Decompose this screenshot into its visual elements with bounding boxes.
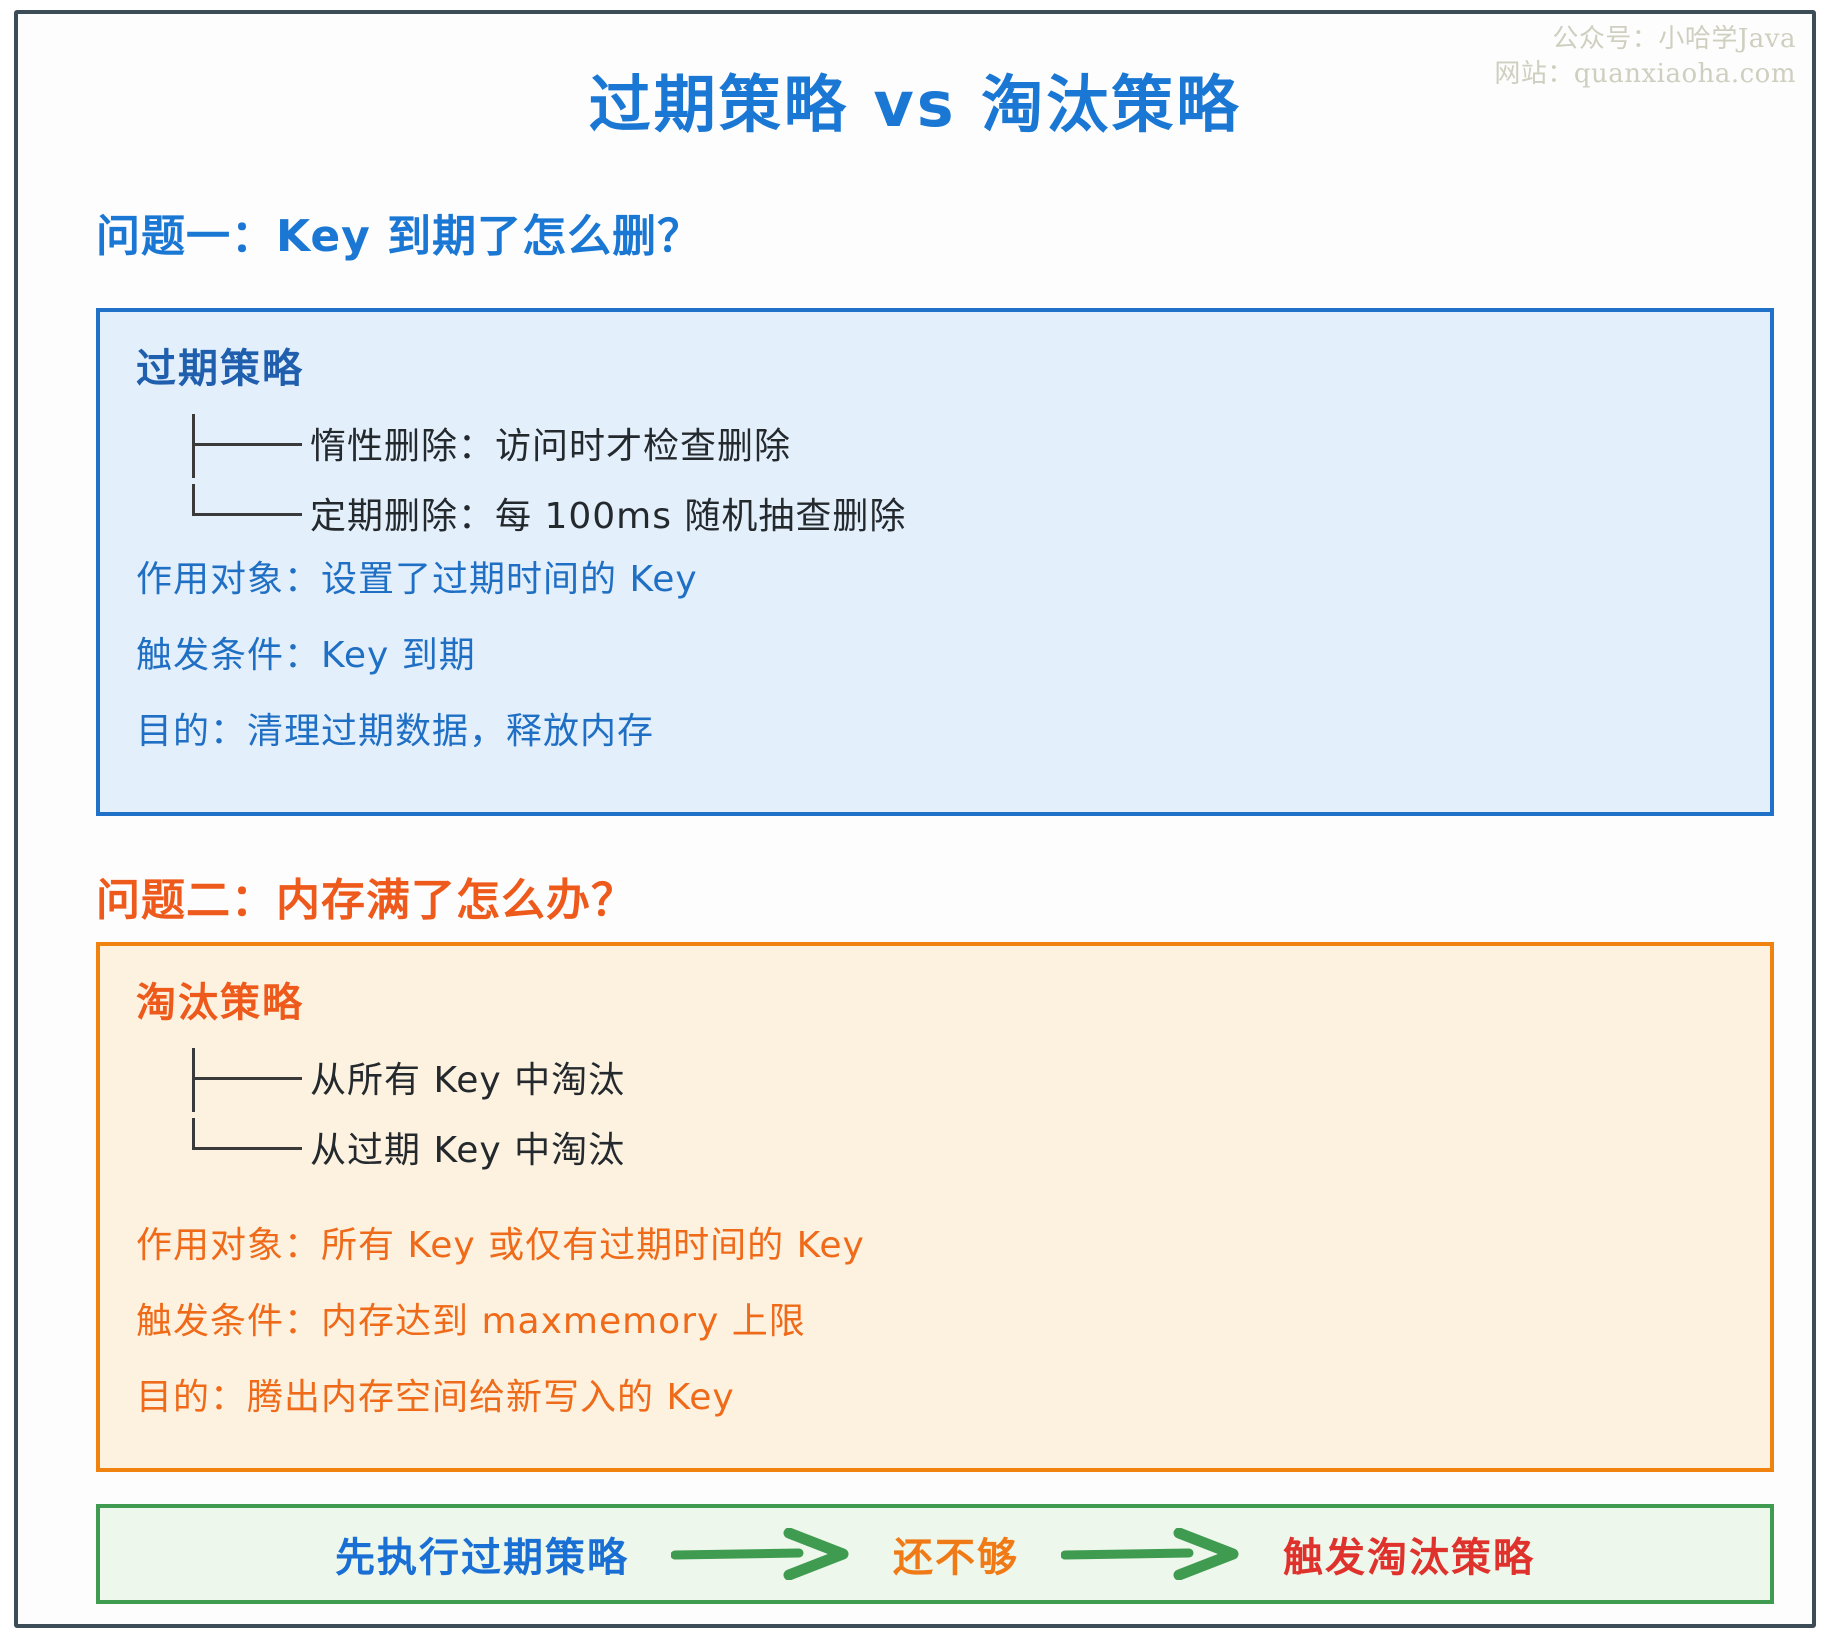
expire-details: 作用对象：设置了过期时间的 Key 触发条件：Key 到期 目的：清理过期数据，… xyxy=(136,550,698,778)
eviction-strategy-box: 淘汰策略 从所有 Key 中淘汰 从过期 Key 中淘汰 作用对象：所有 Key… xyxy=(96,942,1774,1472)
diagram-frame: 公众号：小哈学Java 网站：quanxiaoha.com 过期策略 vs 淘汰… xyxy=(14,10,1816,1628)
arrow-right-icon xyxy=(671,1528,851,1580)
question-two-heading: 问题二：内存满了怎么办？ xyxy=(96,864,636,928)
detail-purpose: 目的：清理过期数据，释放内存 xyxy=(136,702,698,754)
tree-branch-icon xyxy=(192,1042,310,1112)
flow-step-one: 先执行过期策略 xyxy=(335,1525,629,1583)
detail-scope: 作用对象：所有 Key 或仅有过期时间的 Key xyxy=(136,1216,865,1268)
eviction-tree: 从所有 Key 中淘汰 从过期 Key 中淘汰 xyxy=(192,1042,625,1182)
eviction-details: 作用对象：所有 Key 或仅有过期时间的 Key 触发条件：内存达到 maxme… xyxy=(136,1216,865,1444)
expire-tree: 惰性删除：访问时才检查删除 定期删除：每 100ms 随机抽查删除 xyxy=(192,408,906,548)
expire-box-title: 过期策略 xyxy=(136,336,304,394)
tree-branch-end-icon xyxy=(192,1112,310,1182)
tree-branch-icon xyxy=(192,408,310,478)
flow-summary-box: 先执行过期策略 还不够 触发淘汰策略 xyxy=(96,1504,1774,1604)
flow-row: 先执行过期策略 还不够 触发淘汰策略 xyxy=(100,1508,1770,1600)
detail-scope: 作用对象：设置了过期时间的 Key xyxy=(136,550,698,602)
detail-purpose: 目的：腾出内存空间给新写入的 Key xyxy=(136,1368,865,1420)
detail-trigger: 触发条件：Key 到期 xyxy=(136,626,698,678)
eviction-box-title: 淘汰策略 xyxy=(136,970,304,1028)
tree-item: 惰性删除：访问时才检查删除 xyxy=(192,408,906,478)
flow-step-three: 触发淘汰策略 xyxy=(1283,1525,1535,1583)
expire-strategy-box: 过期策略 惰性删除：访问时才检查删除 定期删除：每 100ms 随机抽查删除 作… xyxy=(96,308,1774,816)
tree-item: 定期删除：每 100ms 随机抽查删除 xyxy=(192,478,906,548)
question-one-heading: 问题一：Key 到期了怎么删？ xyxy=(96,200,702,264)
tree-item-label: 定期删除：每 100ms 随机抽查删除 xyxy=(310,487,906,539)
tree-item-label: 从所有 Key 中淘汰 xyxy=(310,1051,625,1103)
page-title: 过期策略 vs 淘汰策略 xyxy=(18,54,1812,144)
tree-item: 从过期 Key 中淘汰 xyxy=(192,1112,625,1182)
tree-item-label: 惰性删除：访问时才检查删除 xyxy=(310,417,791,469)
tree-item-label: 从过期 Key 中淘汰 xyxy=(310,1121,625,1173)
arrow-right-icon xyxy=(1061,1528,1241,1580)
detail-trigger: 触发条件：内存达到 maxmemory 上限 xyxy=(136,1292,865,1344)
watermark-account: 公众号：小哈学Java xyxy=(1494,22,1796,57)
tree-branch-end-icon xyxy=(192,478,310,548)
tree-item: 从所有 Key 中淘汰 xyxy=(192,1042,625,1112)
flow-step-two: 还不够 xyxy=(893,1525,1019,1583)
